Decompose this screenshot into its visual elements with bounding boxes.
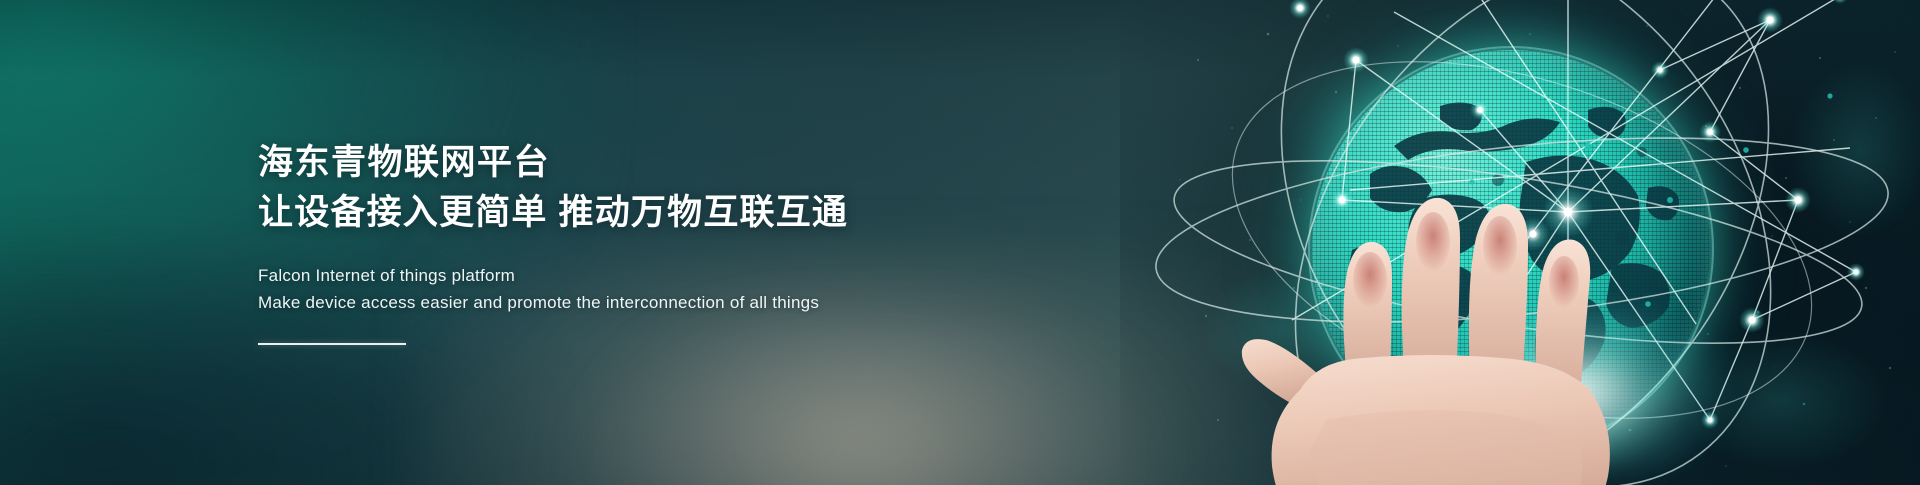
banner-subtitle-block: Falcon Internet of things platform Make …: [258, 262, 848, 316]
open-hand: [1150, 0, 1920, 485]
hero-banner: 海东青物联网平台 让设备接入更简单 推动万物互联互通 Falcon Intern…: [0, 0, 1920, 485]
banner-divider: [258, 343, 406, 345]
banner-subtitle-en-2: Make device access easier and promote th…: [258, 289, 848, 316]
banner-title-secondary: 让设备接入更简单 推动万物互联互通: [258, 188, 848, 238]
globe-artwork: [1150, 0, 1920, 485]
banner-subtitle-en-1: Falcon Internet of things platform: [258, 262, 848, 289]
banner-title-primary: 海东青物联网平台: [258, 138, 848, 188]
banner-copy: 海东青物联网平台 让设备接入更简单 推动万物互联互通 Falcon Intern…: [258, 138, 848, 345]
